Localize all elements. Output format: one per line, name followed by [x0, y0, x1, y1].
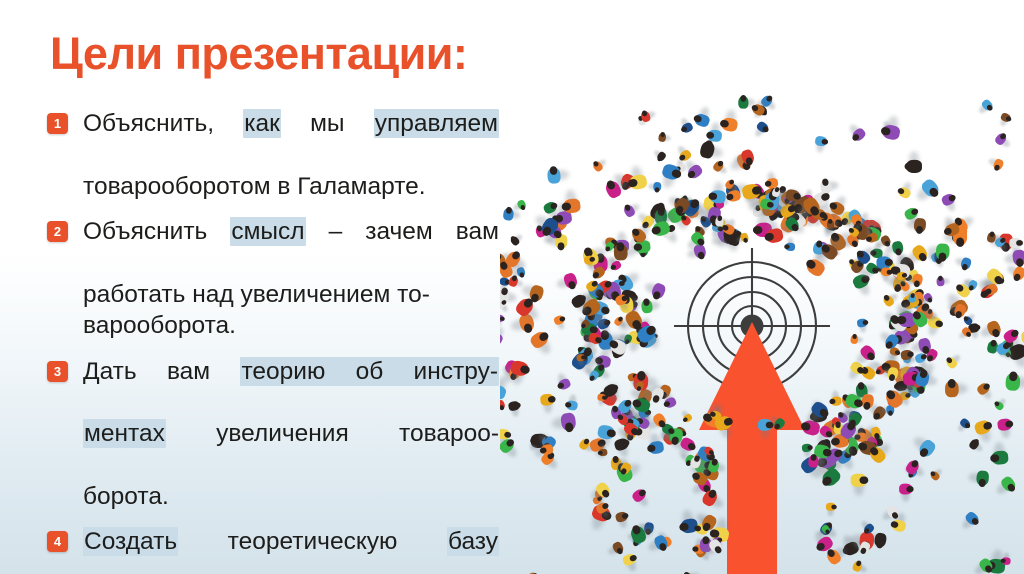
figure-head	[636, 386, 642, 392]
slide: Цели презентации: 1 Объяснить, как мы уп…	[0, 0, 1024, 574]
list-item-text: Дать вам теорию об инстру- ментах увелич…	[83, 356, 499, 513]
figure-head	[1015, 258, 1024, 267]
figure-head	[660, 132, 665, 137]
figure-head	[947, 379, 956, 388]
person-figure	[812, 135, 829, 149]
goals-list: 1 Объяснить, как мы управляем товарообор…	[47, 108, 499, 574]
person-figure	[609, 539, 625, 557]
page-title: Цели презентации:	[50, 30, 467, 79]
figure-head	[752, 185, 763, 196]
person-figure	[598, 393, 607, 400]
highlighted-run: Создать	[83, 527, 178, 556]
person-figure	[725, 178, 736, 189]
person-figure	[881, 292, 897, 308]
person-figure	[826, 219, 833, 228]
person-figure	[658, 131, 666, 141]
person-figure	[682, 414, 692, 424]
person-figure	[991, 469, 1019, 498]
text-run: Объяснить,	[83, 110, 243, 137]
list-item-text: Создать теоретическую базу перед практик…	[83, 526, 499, 574]
person-figure	[908, 292, 915, 301]
person-figure	[979, 97, 995, 113]
text-line: Объяснить, как мы управляем	[83, 108, 499, 171]
figure-head	[629, 553, 638, 562]
person-figure	[526, 570, 539, 574]
figure-head	[938, 275, 943, 280]
person-figure	[587, 475, 613, 503]
figure-head	[784, 244, 789, 249]
person-figure	[640, 109, 653, 123]
person-figure	[936, 275, 944, 285]
person-figure	[851, 559, 864, 573]
text-line: Создать теоретическую базу	[83, 526, 499, 574]
figure-head	[907, 486, 914, 493]
figure-head	[740, 95, 746, 101]
figure-head	[978, 479, 986, 487]
person-figure	[1004, 371, 1024, 406]
figure-head	[914, 281, 921, 288]
person-figure	[1003, 240, 1024, 269]
person-figure	[904, 152, 931, 173]
list-item-number-badge: 4	[47, 531, 68, 552]
person-figure	[826, 502, 837, 511]
text-line: работать над увеличением то-	[83, 279, 499, 310]
person-figure	[681, 569, 698, 574]
figure-head	[717, 215, 723, 221]
figure-head	[888, 374, 896, 382]
figure-head	[875, 541, 883, 549]
person-figure	[618, 551, 640, 570]
highlighted-run: ментах	[83, 419, 166, 448]
person-figure	[553, 314, 567, 326]
figure-head	[1006, 420, 1014, 428]
figure-head	[961, 263, 968, 270]
person-figure	[764, 176, 781, 190]
figure-head	[887, 411, 892, 416]
person-figure	[937, 192, 959, 212]
person-figure	[597, 449, 606, 456]
figure-head	[990, 453, 999, 462]
person-figure	[896, 270, 907, 279]
text-run: Дать вам	[83, 358, 240, 385]
person-figure	[1000, 112, 1013, 123]
person-figure	[577, 353, 586, 360]
figure-head	[862, 320, 868, 326]
person-figure	[913, 352, 928, 365]
figure-head	[539, 446, 546, 453]
figure-head	[863, 402, 871, 410]
person-figure	[991, 418, 1015, 437]
figure-head	[619, 280, 625, 286]
text-column: Цели презентации: 1 Объяснить, как мы уп…	[0, 0, 520, 574]
person-figure	[880, 113, 916, 143]
person-figure	[554, 264, 579, 292]
person-figure	[856, 538, 872, 556]
text-run: мы	[281, 110, 374, 137]
text-line: варооборота.	[83, 310, 499, 341]
list-item-text: Объяснить, как мы управляем товарооборот…	[83, 108, 499, 202]
text-run: теоретическую	[178, 528, 447, 555]
person-figure	[591, 159, 604, 173]
highlighted-run: базу	[447, 527, 499, 556]
person-figure	[993, 399, 1004, 410]
person-figure	[908, 210, 927, 234]
list-item-number-badge: 1	[47, 113, 68, 134]
person-figure	[662, 394, 679, 410]
illustration-crowd-target	[500, 0, 1024, 574]
person-figure	[992, 130, 1009, 148]
figure-head	[708, 192, 717, 201]
person-figure	[644, 272, 670, 301]
figure-head	[602, 395, 607, 400]
person-figure	[944, 378, 967, 408]
person-figure	[719, 108, 749, 133]
list-item-number-badge: 3	[47, 361, 68, 382]
figure-head	[560, 315, 567, 322]
text-line: товарооборотом в Галамарте.	[83, 171, 499, 202]
highlighted-run: смысл	[230, 217, 305, 246]
figure-head	[597, 450, 602, 455]
person-figure	[929, 470, 940, 481]
figure-head	[916, 226, 924, 234]
person-figure	[944, 355, 960, 371]
figure-head	[956, 238, 965, 247]
figure-head	[581, 355, 586, 360]
figure-head	[938, 253, 947, 262]
figure-head	[831, 504, 836, 509]
figure-head	[901, 272, 907, 278]
figure-head	[564, 423, 574, 433]
figure-head	[706, 131, 714, 139]
list-item: 1 Объяснить, как мы управляем товарообор…	[47, 108, 499, 202]
person-figure	[715, 215, 724, 226]
person-figure	[958, 254, 973, 271]
person-figure	[612, 511, 629, 526]
person-figure	[784, 243, 795, 252]
text-line: ментах увеличения товароо-	[83, 418, 499, 481]
figure-head	[719, 119, 728, 128]
text-line: Объяснить смысл – зачем вам	[83, 216, 499, 279]
highlighted-run: как	[243, 109, 281, 138]
figure-head	[654, 187, 659, 192]
person-figure	[753, 119, 770, 136]
figure-head	[692, 546, 698, 552]
person-figure	[856, 318, 868, 328]
person-figure	[848, 121, 870, 143]
person-figure	[958, 507, 981, 530]
person-figure	[901, 457, 925, 482]
person-figure	[895, 484, 914, 499]
figure-head	[910, 293, 915, 298]
list-item: 3 Дать вам теорию об инстру- ментах увел…	[47, 356, 499, 513]
person-figure	[622, 201, 639, 219]
text-line: Дать вам теорию об инстру-	[83, 356, 499, 419]
crowd-of-people	[500, 0, 1024, 574]
person-figure	[1001, 558, 1010, 565]
person-figure	[986, 231, 997, 243]
person-figure	[740, 233, 750, 244]
person-figure	[970, 462, 991, 487]
person-figure	[989, 440, 1020, 465]
figure-head	[822, 138, 829, 145]
figure-head	[557, 242, 565, 250]
highlighted-run: управляем	[374, 109, 499, 138]
person-figure	[913, 368, 939, 398]
person-figure	[962, 315, 972, 325]
person-figure	[991, 156, 1005, 172]
list-item-text: Объяснить смысл – зачем вам работать над…	[83, 216, 499, 341]
text-run: – зачем вам	[306, 218, 499, 245]
figure-head	[897, 315, 906, 324]
person-figure	[909, 423, 945, 460]
figure-head	[753, 225, 762, 234]
list-item: 4 Создать теоретическую базу перед практ…	[47, 526, 499, 574]
text-run: Объяснить	[83, 218, 230, 245]
text-run: увеличения товароо-	[166, 420, 499, 447]
list-item: 2 Объяснить смысл – зачем вам работать н…	[47, 216, 499, 341]
highlighted-run: теорию об инстру-	[240, 357, 499, 386]
person-figure	[738, 95, 751, 112]
text-line: борота.	[83, 481, 499, 512]
person-figure	[840, 474, 868, 496]
person-figure	[973, 380, 993, 399]
person-figure	[565, 399, 581, 412]
figure-head	[904, 162, 912, 170]
person-figure	[808, 453, 821, 470]
person-figure	[771, 415, 787, 431]
list-item-number-badge: 2	[47, 221, 68, 242]
figure-head	[860, 476, 868, 484]
